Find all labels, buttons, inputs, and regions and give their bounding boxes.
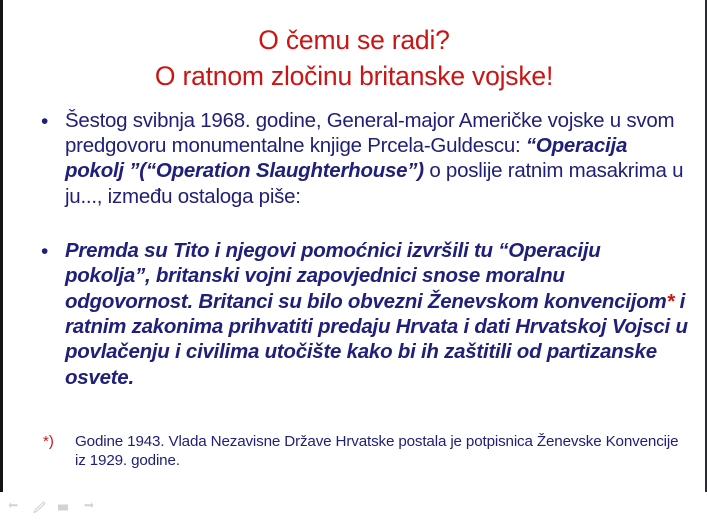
slide-canvas: O čemu se radi? O ratnom zločinu britans… — [3, 0, 705, 492]
footnote-marker: *) — [43, 432, 54, 451]
slideshow-toolbar — [0, 492, 707, 526]
bullet-2-segment-head: Premda su Tito i njegovi pomoćnici izvrš… — [65, 239, 667, 313]
bullet-text-1: Šestog svibnja 1968. godine, General-maj… — [3, 108, 705, 209]
slide-root: O čemu se radi? O ratnom zločinu britans… — [0, 0, 707, 526]
bullet-marker-icon: • — [41, 109, 55, 134]
footnote: *) Godine 1943. Vlada Nezavisne Države H… — [3, 432, 705, 471]
pen-icon[interactable] — [32, 501, 47, 515]
slide-title: O čemu se radi? O ratnom zločinu britans… — [3, 22, 705, 94]
bullet-item-2: • Premda su Tito i njegovi pomoćnici izv… — [3, 238, 705, 390]
footnote-text: Godine 1943. Vlada Nezavisne Države Hrva… — [3, 432, 705, 471]
title-line-1: O čemu se radi? — [3, 22, 705, 58]
previous-slide-icon[interactable] — [8, 501, 23, 515]
bullet-marker-icon: • — [41, 239, 55, 264]
bullet-text-2: Premda su Tito i njegovi pomoćnici izvrš… — [3, 238, 705, 390]
title-line-2: O ratnom zločinu britanske vojske! — [3, 58, 705, 94]
slideshow-toolbar-icons — [8, 501, 95, 515]
next-slide-icon[interactable] — [80, 501, 95, 515]
slide-body: • Šestog svibnja 1968. godine, General-m… — [3, 108, 705, 390]
bullet-item-1: • Šestog svibnja 1968. godine, General-m… — [3, 108, 705, 209]
slide-menu-icon[interactable] — [56, 501, 71, 515]
